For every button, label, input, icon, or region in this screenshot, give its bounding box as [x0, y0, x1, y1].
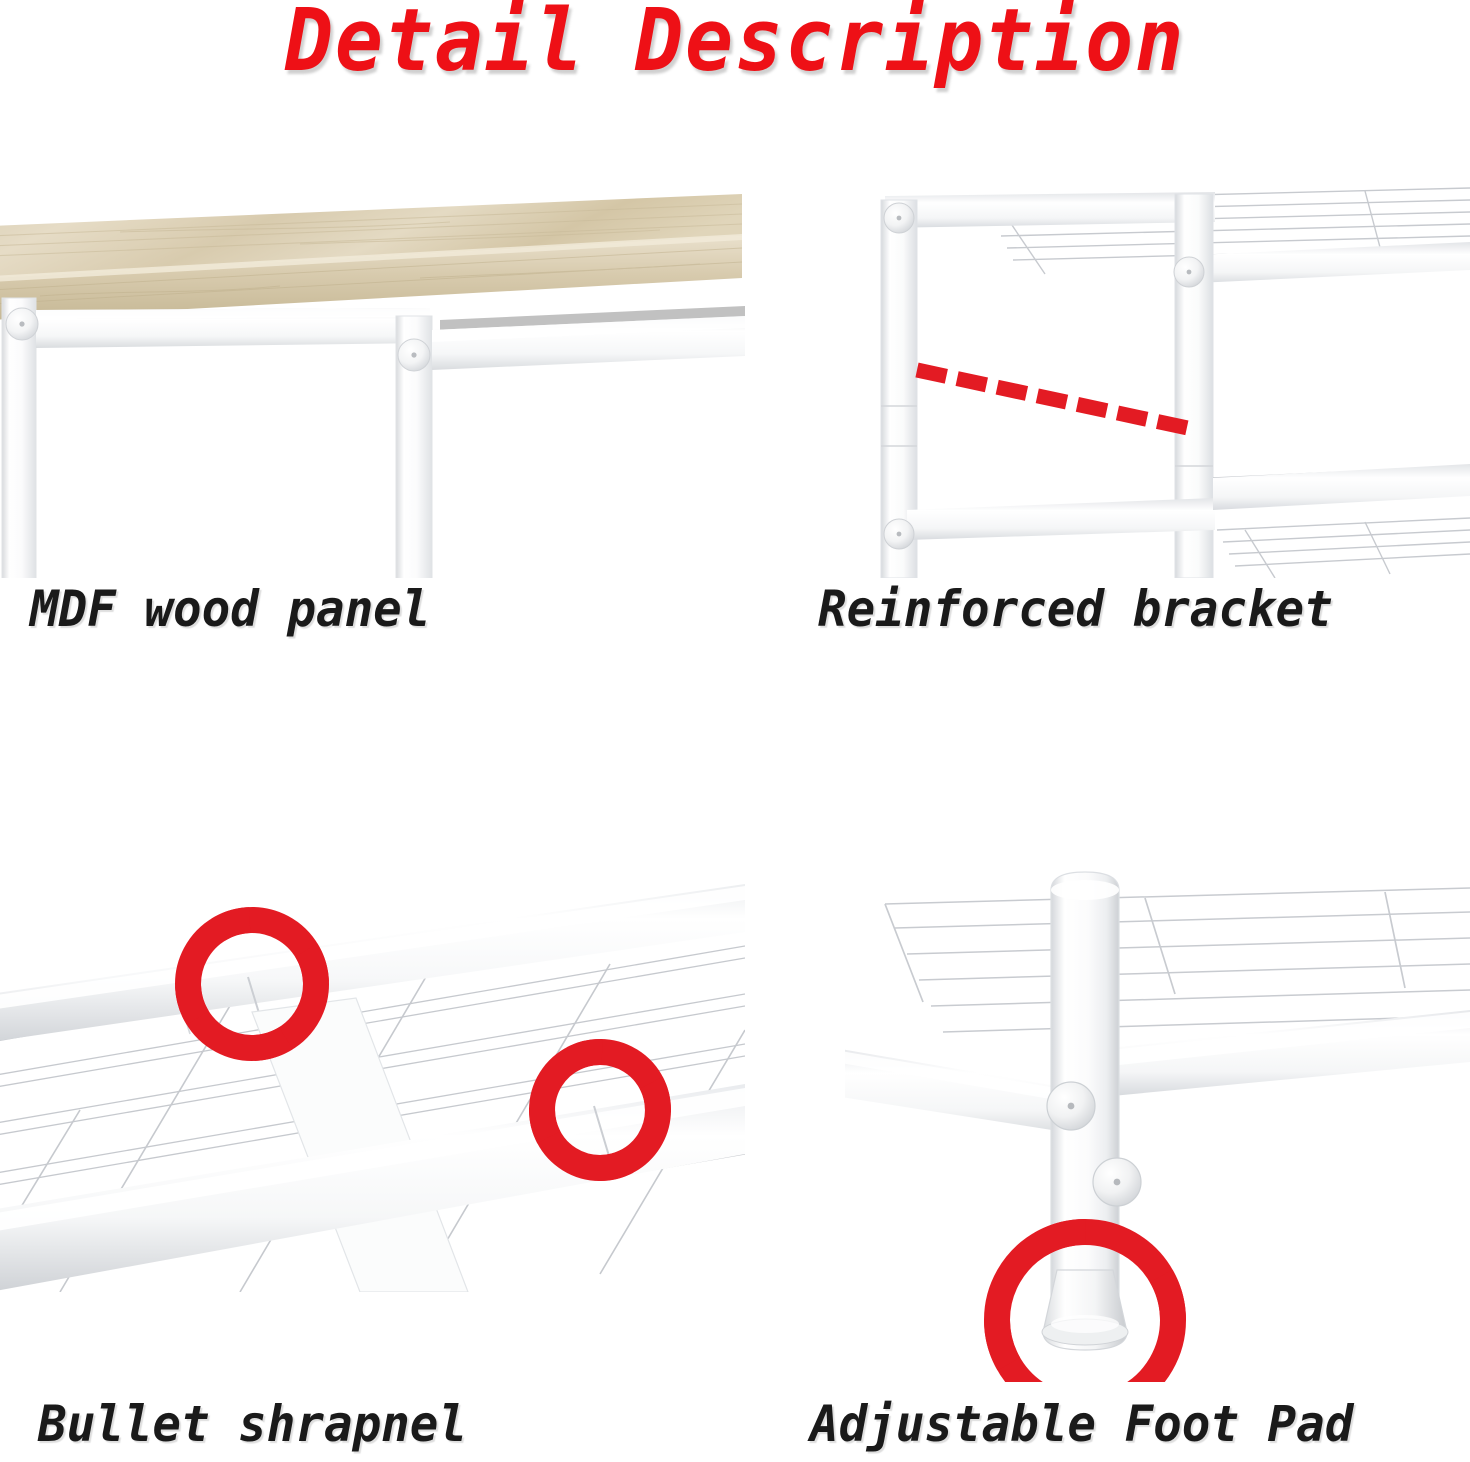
- caption-reinforced-bracket: Reinforced bracket: [818, 580, 1333, 638]
- mdf-wood-panel-illustration: [0, 178, 745, 578]
- photo-mdf-wood-panel: [0, 178, 745, 578]
- screw-cap-mid-right: [1174, 257, 1204, 287]
- screw-cap-lower: [1093, 1158, 1141, 1206]
- screw-cap-middle: [398, 339, 430, 371]
- lower-rail: [907, 498, 1215, 540]
- shelf-wires: [885, 888, 1470, 1032]
- photo-bullet-shrapnel: [0, 862, 745, 1292]
- screw-cap-upper: [1047, 1082, 1095, 1130]
- caption-mdf-wood-panel: MDF wood panel: [30, 580, 430, 638]
- screw-cap-top-left: [884, 203, 914, 233]
- frame-front-rail: [36, 308, 430, 348]
- screw-cap-bottom-left: [884, 519, 914, 549]
- rear-tube-rail: [0, 884, 745, 1042]
- caption-bullet-shrapnel: Bullet shrapnel: [38, 1395, 467, 1453]
- annotation-dashed-line: [917, 370, 1197, 430]
- upper-shelf-front-rail: [1175, 242, 1470, 284]
- photo-adjustable-foot-pad: [845, 862, 1470, 1382]
- top-rail: [885, 192, 1215, 228]
- caption-adjustable-foot-pad: Adjustable Foot Pad: [810, 1395, 1353, 1453]
- page-title: Detail Description: [51, 0, 1418, 86]
- screw-cap-left: [6, 308, 38, 340]
- bullet-shrapnel-illustration: [0, 862, 745, 1292]
- reinforced-bracket-illustration: [845, 178, 1470, 578]
- adjustable-foot-pad-illustration: [845, 862, 1470, 1382]
- photo-reinforced-bracket: [845, 178, 1470, 578]
- shelf-rail-right: [1091, 1010, 1470, 1098]
- detail-description-page: Detail Description: [0, 0, 1470, 1462]
- adjustable-foot-cap: [1042, 1270, 1128, 1350]
- lower-shelf-front-rail: [1213, 464, 1470, 510]
